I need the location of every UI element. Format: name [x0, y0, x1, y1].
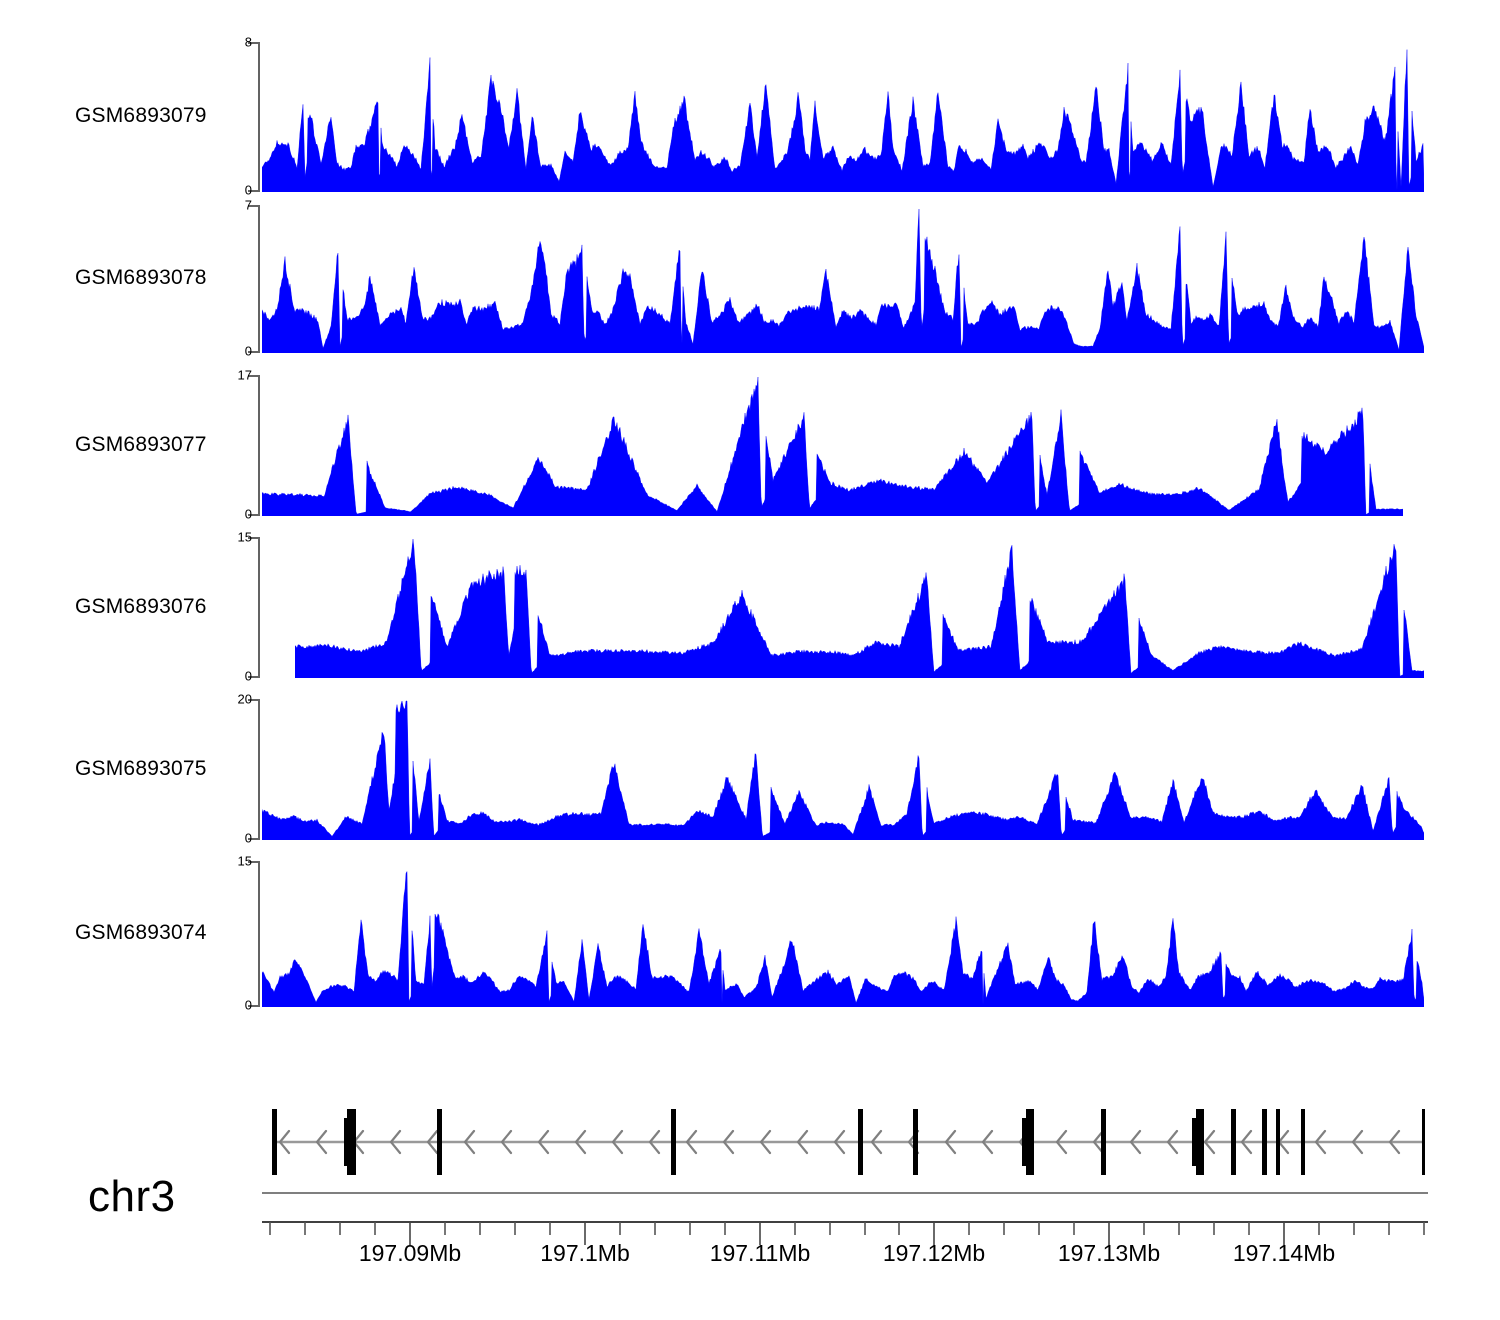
- axis-tick-label: 197.12Mb: [883, 1240, 985, 1267]
- axis-tick-label: 197.14Mb: [1233, 1240, 1335, 1267]
- y-axis-max-label: 17: [238, 369, 252, 382]
- axis-tick-label: 197.1Mb: [540, 1240, 630, 1267]
- y-axis-max-label: 15: [238, 855, 252, 868]
- y-axis-min-label: 0: [245, 670, 252, 683]
- y-axis-min-label: 0: [245, 345, 252, 358]
- track-label-gsm6893074: GSM6893074: [75, 921, 235, 945]
- genome-coordinate-axis[interactable]: [0, 1185, 1500, 1245]
- coverage-track-gsm6893077[interactable]: GSM6893077170: [0, 375, 1500, 516]
- coverage-area-gsm6893078[interactable]: [262, 205, 1424, 353]
- y-axis-spine: [258, 699, 260, 840]
- y-axis-max-label: 8: [245, 36, 252, 49]
- track-label-gsm6893079: GSM6893079: [75, 104, 235, 128]
- coverage-track-gsm6893079[interactable]: GSM689307980: [0, 42, 1500, 192]
- coverage-area-gsm6893077[interactable]: [262, 375, 1403, 516]
- y-axis-max-label: 20: [238, 693, 252, 706]
- axis-tick-label: 197.11Mb: [710, 1240, 811, 1267]
- y-axis-max-label: 15: [238, 531, 252, 544]
- track-label-gsm6893075: GSM6893075: [75, 757, 235, 781]
- y-axis-min-label: 0: [245, 508, 252, 521]
- track-label-gsm6893078: GSM6893078: [75, 266, 235, 290]
- track-label-gsm6893077: GSM6893077: [75, 433, 235, 457]
- coverage-area-gsm6893076[interactable]: [295, 537, 1424, 678]
- coverage-area-gsm6893075[interactable]: [262, 699, 1424, 840]
- coverage-area-gsm6893079[interactable]: [262, 42, 1424, 192]
- axis-tick-label: 197.09Mb: [359, 1240, 461, 1267]
- coverage-track-gsm6893078[interactable]: GSM689307870: [0, 205, 1500, 353]
- coverage-track-gsm6893076[interactable]: GSM6893076150: [0, 537, 1500, 678]
- coverage-area-gsm6893074[interactable]: [262, 861, 1424, 1007]
- y-axis-min-label: 0: [245, 184, 252, 197]
- y-axis-spine: [258, 861, 260, 1007]
- genome-browser-figure: GSM689307980 GSM689307870 GSM6893077170 …: [0, 0, 1500, 1320]
- y-axis-min-label: 0: [245, 832, 252, 845]
- y-axis-spine: [258, 537, 260, 678]
- y-axis-spine: [258, 42, 260, 192]
- y-axis-max-label: 7: [245, 199, 252, 212]
- y-axis-min-label: 0: [245, 999, 252, 1012]
- axis-tick-label: 197.13Mb: [1058, 1240, 1160, 1267]
- track-label-gsm6893076: GSM6893076: [75, 595, 235, 619]
- y-axis-spine: [258, 205, 260, 353]
- coverage-track-gsm6893075[interactable]: GSM6893075200: [0, 699, 1500, 840]
- coverage-track-gsm6893074[interactable]: GSM6893074150: [0, 861, 1500, 1007]
- y-axis-spine: [258, 375, 260, 516]
- gene-model-track[interactable]: [0, 1100, 1500, 1190]
